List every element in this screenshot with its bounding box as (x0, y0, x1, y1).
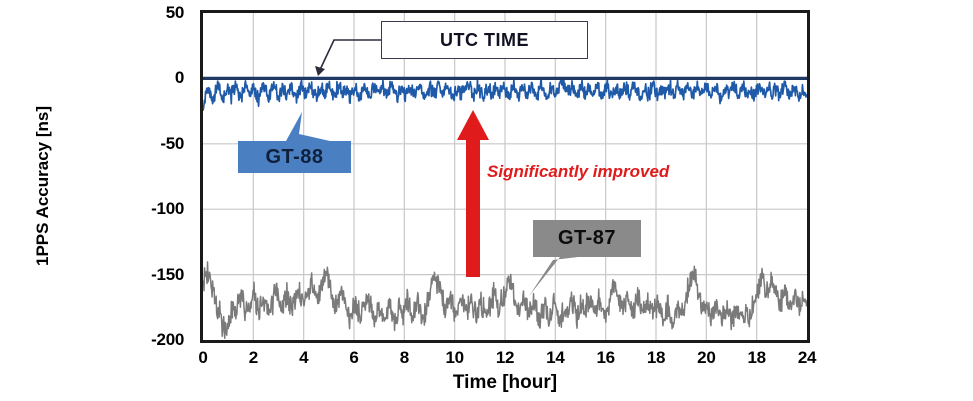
significantly-improved-label: Significantly improved (487, 162, 669, 182)
x-axis-tick-labels: 024681012141618201824 (200, 348, 810, 372)
y-tick-label: -200 (151, 330, 192, 350)
gt87-callout: GT-87 (533, 220, 641, 257)
utc-time-callout: UTC TIME (381, 21, 588, 59)
x-tick-label: 24 (798, 348, 816, 368)
y-tick-label: -150 (151, 265, 192, 285)
x-tick-label: 10 (446, 348, 464, 368)
x-tick-label: 12 (496, 348, 514, 368)
x-axis-title: Time [hour] (200, 372, 810, 394)
x-tick-label: 18 (748, 348, 766, 368)
x-tick-label: 14 (546, 348, 564, 368)
x-tick-label: 18 (647, 348, 665, 368)
x-tick-label: 0 (198, 348, 207, 368)
y-axis-title: 1PPS Accuracy [ns] (33, 81, 53, 291)
y-axis-tick-labels: 500-50-100-150-200 (0, 10, 192, 343)
gt88-callout: GT-88 (238, 141, 351, 173)
x-tick-label: 2 (249, 348, 258, 368)
x-tick-label: 6 (349, 348, 358, 368)
x-tick-label: 8 (400, 348, 409, 368)
y-tick-label: -50 (160, 134, 192, 154)
utc-time-label: UTC TIME (440, 30, 529, 51)
y-tick-label: 50 (166, 3, 192, 23)
gt87-label: GT-87 (558, 227, 616, 250)
y-tick-label: -100 (151, 199, 192, 219)
gt88-label: GT-88 (265, 146, 323, 169)
y-tick-label: 0 (175, 68, 192, 88)
x-tick-label: 16 (597, 348, 615, 368)
x-tick-label: 4 (299, 348, 308, 368)
chart-figure: 500-50-100-150-200 1PPS Accuracy [ns] 02… (0, 0, 973, 401)
x-tick-label: 20 (697, 348, 715, 368)
